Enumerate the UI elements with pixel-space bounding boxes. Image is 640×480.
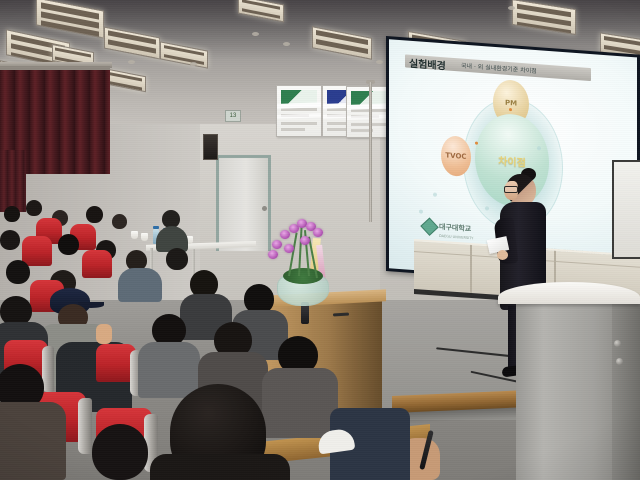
slide-logo-subtext: DAEGU UNIVERSITY — [439, 234, 473, 241]
seat-armrest — [78, 398, 92, 454]
slide-accent-dot — [509, 108, 512, 111]
ceiling-fixture-dot — [252, 32, 259, 36]
slide-spark — [537, 146, 541, 150]
diamond-logo-icon — [420, 217, 438, 235]
ceiling-fixture-dot — [283, 42, 290, 46]
glasses-icon — [504, 186, 518, 193]
slide-accent-dot — [475, 142, 478, 145]
lectern-knob[interactable] — [614, 340, 621, 347]
ceiling-fixture-dot — [128, 60, 135, 64]
audience-hand — [96, 324, 112, 344]
side-whiteboard — [612, 160, 640, 259]
audience-body — [138, 342, 200, 398]
audience-body — [0, 402, 66, 480]
slide-logo: 대구대학교 DAEGU UNIVERSITY — [423, 215, 473, 241]
slide-spark — [485, 206, 489, 210]
lectern-side-panel — [612, 300, 640, 480]
audience-head — [26, 200, 42, 216]
audience-head — [0, 230, 20, 250]
room-number-sign: 13 — [225, 110, 241, 122]
audience-head — [4, 206, 20, 222]
lectern-knob[interactable] — [616, 358, 623, 365]
audience-head — [6, 260, 30, 284]
ceiling-fixture-dot — [508, 6, 515, 10]
cabinet-seam — [470, 245, 472, 293]
slide-logo-name: 대구대학교 — [439, 223, 471, 233]
seat[interactable] — [82, 250, 112, 278]
audience-head — [92, 424, 148, 480]
audience-head — [112, 214, 127, 229]
wall-speaker — [203, 134, 218, 160]
audience-body — [118, 268, 162, 302]
audience-body — [150, 454, 290, 480]
lecture-hall-photo: 13 대구 Q 2008. 11. 실험배경 국내 · 외 실내환경기준 차이점 — [0, 0, 640, 480]
wall-poster — [276, 85, 322, 137]
slide-title: 실험배경 — [409, 55, 446, 73]
presenter-hand — [497, 250, 508, 260]
seat[interactable] — [22, 236, 52, 266]
audience-body — [262, 368, 338, 438]
ceiling-fixture-dot — [190, 62, 197, 66]
ceiling-fixture-dot — [376, 60, 383, 64]
audience-head — [166, 248, 188, 270]
audience-head — [58, 234, 79, 255]
slide-spark — [433, 192, 437, 196]
audience-head — [86, 206, 103, 223]
